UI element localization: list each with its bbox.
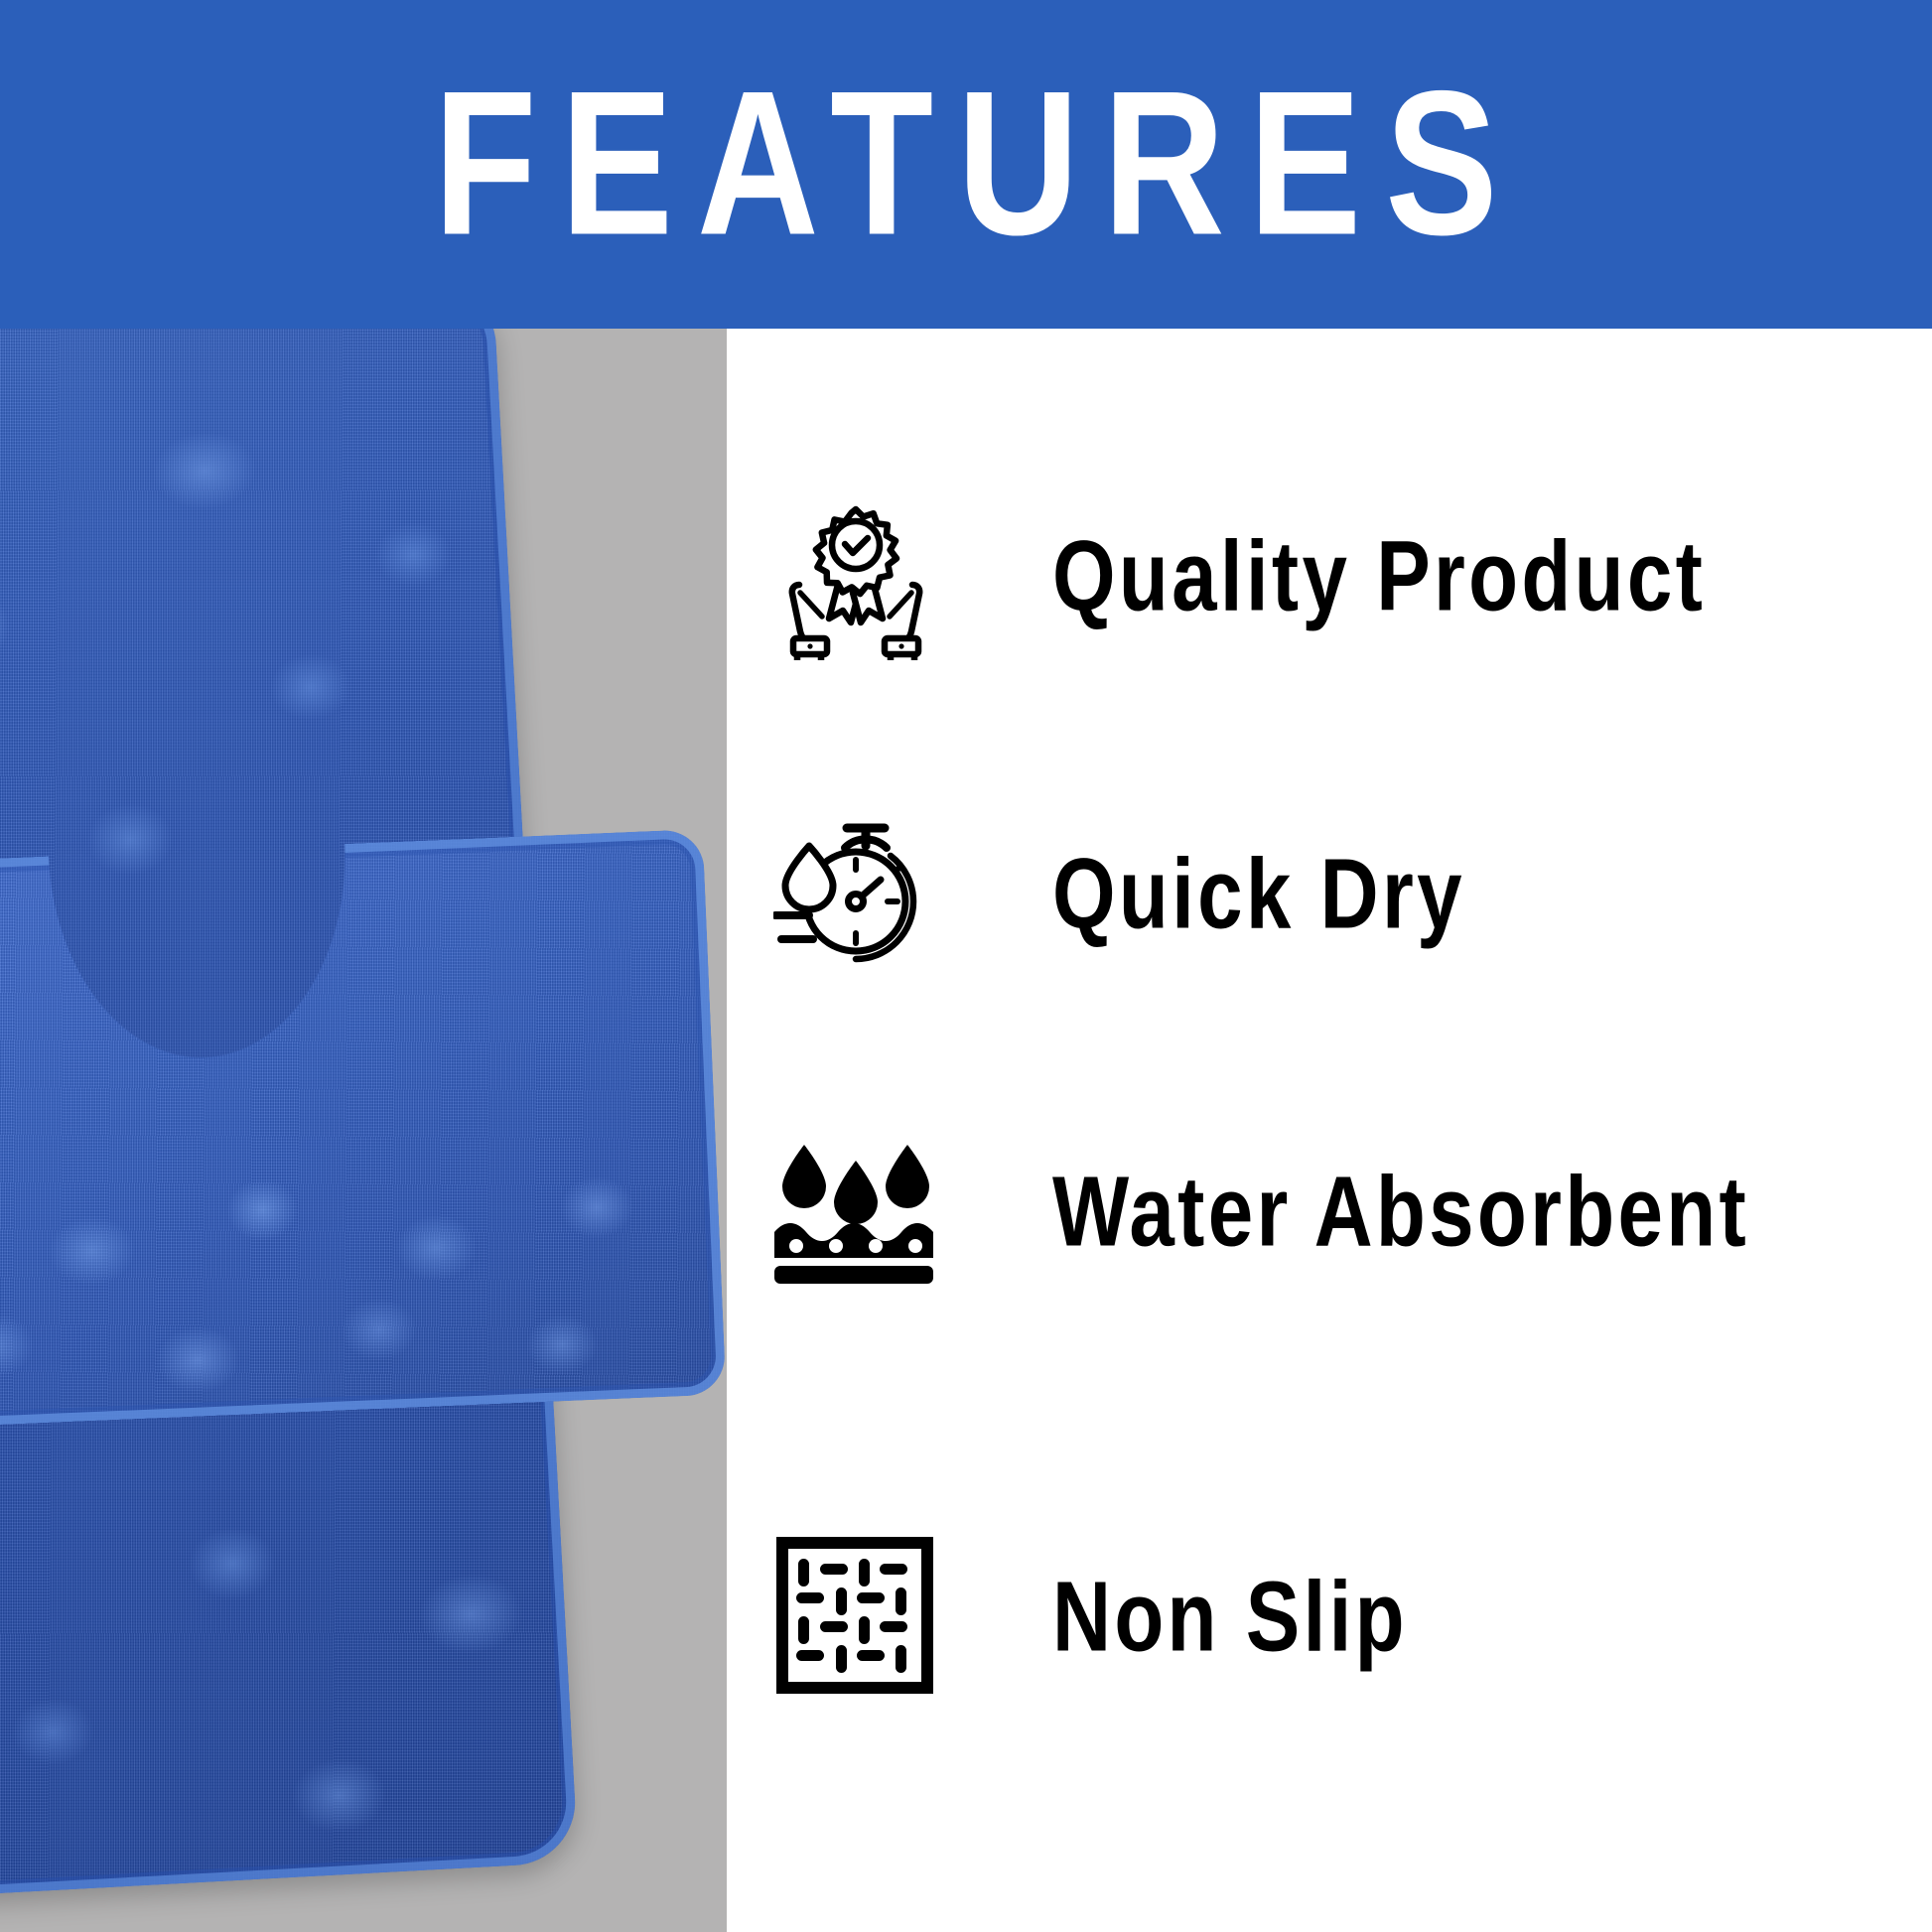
feature-label: Water Absorbent <box>1052 1163 1749 1262</box>
feature-label: Quality Product <box>1052 527 1706 626</box>
feature-item-non-slip: Non Slip <box>727 1518 1932 1717</box>
contour-mat-notch <box>48 842 354 1064</box>
water-drops-absorbent-layer-icon <box>768 1137 943 1288</box>
product-photo-panel <box>0 329 727 1932</box>
feature-infographic: FEATURES <box>0 0 1932 1932</box>
feature-item-quick-dry: Quick Dry <box>727 795 1932 994</box>
feature-list: Quality Product <box>727 329 1932 1932</box>
non-slip-weave-grid-icon <box>768 1537 943 1698</box>
quality-badge-in-hands-icon <box>768 493 943 660</box>
stopwatch-water-drop-icon <box>768 816 943 973</box>
page-title: FEATURES <box>410 62 1522 267</box>
header-banner: FEATURES <box>0 0 1932 329</box>
feature-label: Quick Dry <box>1052 845 1465 944</box>
feature-item-quality-product: Quality Product <box>727 478 1932 676</box>
contour-pedestal-mat <box>0 829 726 1437</box>
feature-item-water-absorbent: Water Absorbent <box>727 1113 1932 1311</box>
feature-label: Non Slip <box>1052 1568 1408 1667</box>
